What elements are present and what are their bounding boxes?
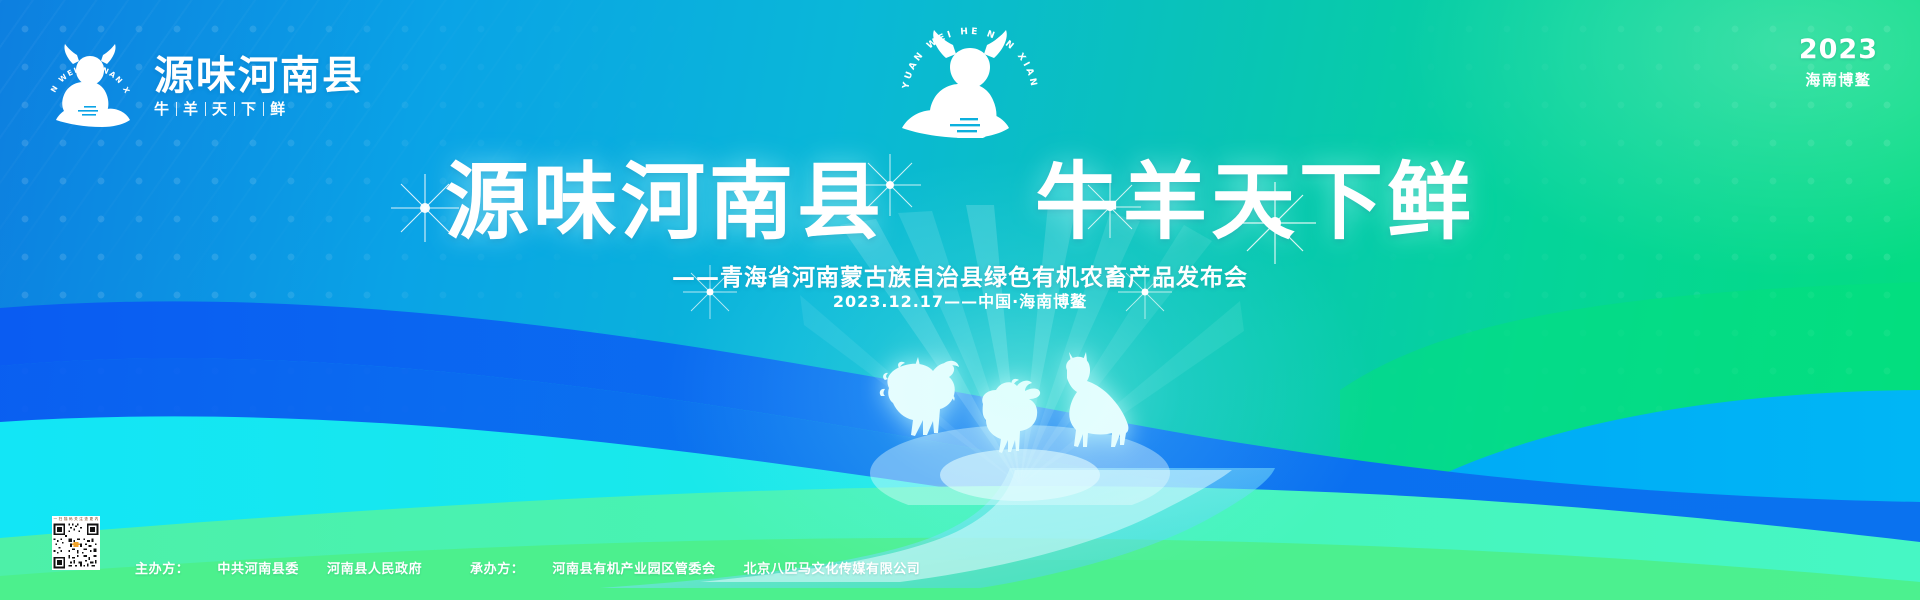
horse-silhouette bbox=[1066, 352, 1128, 447]
host-group: 承办方： 河南县有机产业园区管委会 北京八匹马文化传媒有限公司 bbox=[470, 558, 920, 577]
slogan-divider bbox=[205, 102, 206, 116]
slogan-divider bbox=[176, 102, 177, 116]
date-line: 2023.12.17——中国·海南博鳌 bbox=[0, 288, 1920, 312]
host-label: 承办方： bbox=[470, 558, 524, 577]
event-banner: YUAN WEI HE NAN XIAN bbox=[0, 0, 1920, 600]
footer: 一 扫 描 码 关 注 查 更 内 bbox=[0, 510, 1920, 600]
headline: 源味河南县 牛羊天下鲜 bbox=[0, 160, 1920, 244]
qr-code-icon[interactable] bbox=[52, 522, 100, 570]
year-badge: 2023 海南博鳌 bbox=[1799, 36, 1878, 90]
logo-slogan-char-0: 牛 bbox=[154, 102, 170, 117]
logo-slogan-char-1: 羊 bbox=[183, 102, 199, 117]
year-place: 海南博鳌 bbox=[1799, 69, 1878, 90]
organizer-0: 中共河南县委 bbox=[217, 558, 299, 577]
headline-left: 源味河南县 bbox=[445, 160, 885, 244]
yak-head-emblem-icon bbox=[902, 30, 1009, 138]
slogan-divider bbox=[263, 102, 264, 116]
logo-title: 源味河南县 bbox=[154, 56, 364, 96]
logo-slogan: 牛 羊 天 下 鲜 bbox=[154, 102, 364, 117]
yak-silhouette bbox=[880, 357, 959, 436]
logo-slogan-char-3: 下 bbox=[241, 102, 257, 117]
brand-logo-left[interactable]: YUAN WEI HE NAN XIAN bbox=[40, 34, 364, 134]
organizer-1: 河南县人民政府 bbox=[327, 558, 422, 577]
yak-head-emblem-icon: YUAN WEI HE NAN XIAN bbox=[40, 34, 140, 134]
organizer-label: 主办方： bbox=[135, 558, 189, 577]
slogan-divider bbox=[234, 102, 235, 116]
subtitle: ——青海省河南蒙古族自治县绿色有机农畜产品发布会 bbox=[0, 258, 1920, 292]
year-number: 2023 bbox=[1799, 36, 1878, 64]
animal-silhouettes bbox=[855, 352, 1135, 482]
host-1: 北京八匹马文化传媒有限公司 bbox=[744, 558, 921, 577]
logo-slogan-char-2: 天 bbox=[212, 102, 228, 117]
center-emblem: YUAN WEI HE NAN XIAN bbox=[880, 18, 1060, 138]
logo-slogan-char-4: 鲜 bbox=[270, 102, 286, 117]
headline-right: 牛羊天下鲜 bbox=[1035, 160, 1475, 244]
host-0: 河南县有机产业园区管委会 bbox=[552, 558, 715, 577]
qr-code-block[interactable]: 一 扫 描 码 关 注 查 更 内 bbox=[52, 516, 100, 572]
organizer-group: 主办方： 中共河南县委 河南县人民政府 bbox=[135, 558, 422, 577]
sheep-silhouette bbox=[982, 379, 1040, 453]
